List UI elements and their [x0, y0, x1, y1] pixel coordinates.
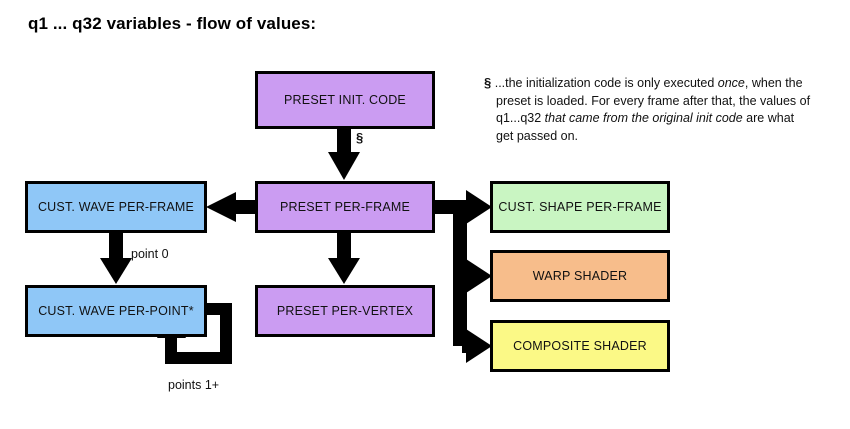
footnote-original-init-code: the original init code	[632, 111, 743, 125]
node-composite-shader[interactable]: COMPOSITE SHADER	[490, 320, 670, 372]
arrow-down-custwavepf-to-custwavepp	[100, 233, 132, 284]
arrow-left-perframe-to-custwave	[206, 192, 258, 222]
footnote-marker: §	[484, 75, 491, 90]
edge-label-point-0: point 0	[131, 247, 169, 261]
page-title: q1 ... q32 variables - flow of values:	[28, 14, 316, 34]
node-cust-shape-per-frame[interactable]: CUST. SHAPE PER-FRAME	[490, 181, 670, 233]
node-preset-per-vertex-label: PRESET PER-VERTEX	[277, 305, 413, 318]
node-preset-per-vertex[interactable]: PRESET PER-VERTEX	[255, 285, 435, 337]
node-warp-shader[interactable]: WARP SHADER	[490, 250, 670, 302]
footnote-once: once	[718, 76, 745, 90]
node-preset-init-code[interactable]: PRESET INIT. CODE	[255, 71, 435, 129]
arrow-bus-perframe-to-right-column	[435, 190, 492, 363]
node-preset-per-frame-label: PRESET PER-FRAME	[280, 201, 410, 214]
arrow-down-perframe-to-pervertex	[328, 233, 360, 284]
node-cust-wave-per-point[interactable]: CUST. WAVE PER-POINT*	[25, 285, 207, 337]
node-cust-wave-per-frame[interactable]: CUST. WAVE PER-FRAME	[25, 181, 207, 233]
footnote-text: § ...the initialization code is only exe…	[484, 74, 814, 145]
node-warp-shader-label: WARP SHADER	[533, 270, 628, 283]
node-preset-per-frame[interactable]: PRESET PER-FRAME	[255, 181, 435, 233]
node-cust-shape-per-frame-label: CUST. SHAPE PER-FRAME	[498, 201, 661, 214]
edge-label-points-1-plus: points 1+	[168, 378, 219, 392]
footnote-line1: ...the initialization code is only execu…	[495, 76, 715, 90]
node-cust-wave-per-point-label: CUST. WAVE PER-POINT*	[38, 305, 194, 318]
edge-label-section-mark: §	[356, 130, 363, 145]
node-cust-wave-per-frame-label: CUST. WAVE PER-FRAME	[38, 201, 194, 214]
footnote-note: § ...the initialization code is only exe…	[484, 74, 814, 145]
node-preset-init-code-label: PRESET INIT. CODE	[284, 94, 406, 107]
diagram-canvas: q1 ... q32 variables - flow of values:	[0, 0, 850, 429]
node-composite-shader-label: COMPOSITE SHADER	[513, 340, 647, 353]
footnote-that-came-from: that came from	[545, 111, 628, 125]
